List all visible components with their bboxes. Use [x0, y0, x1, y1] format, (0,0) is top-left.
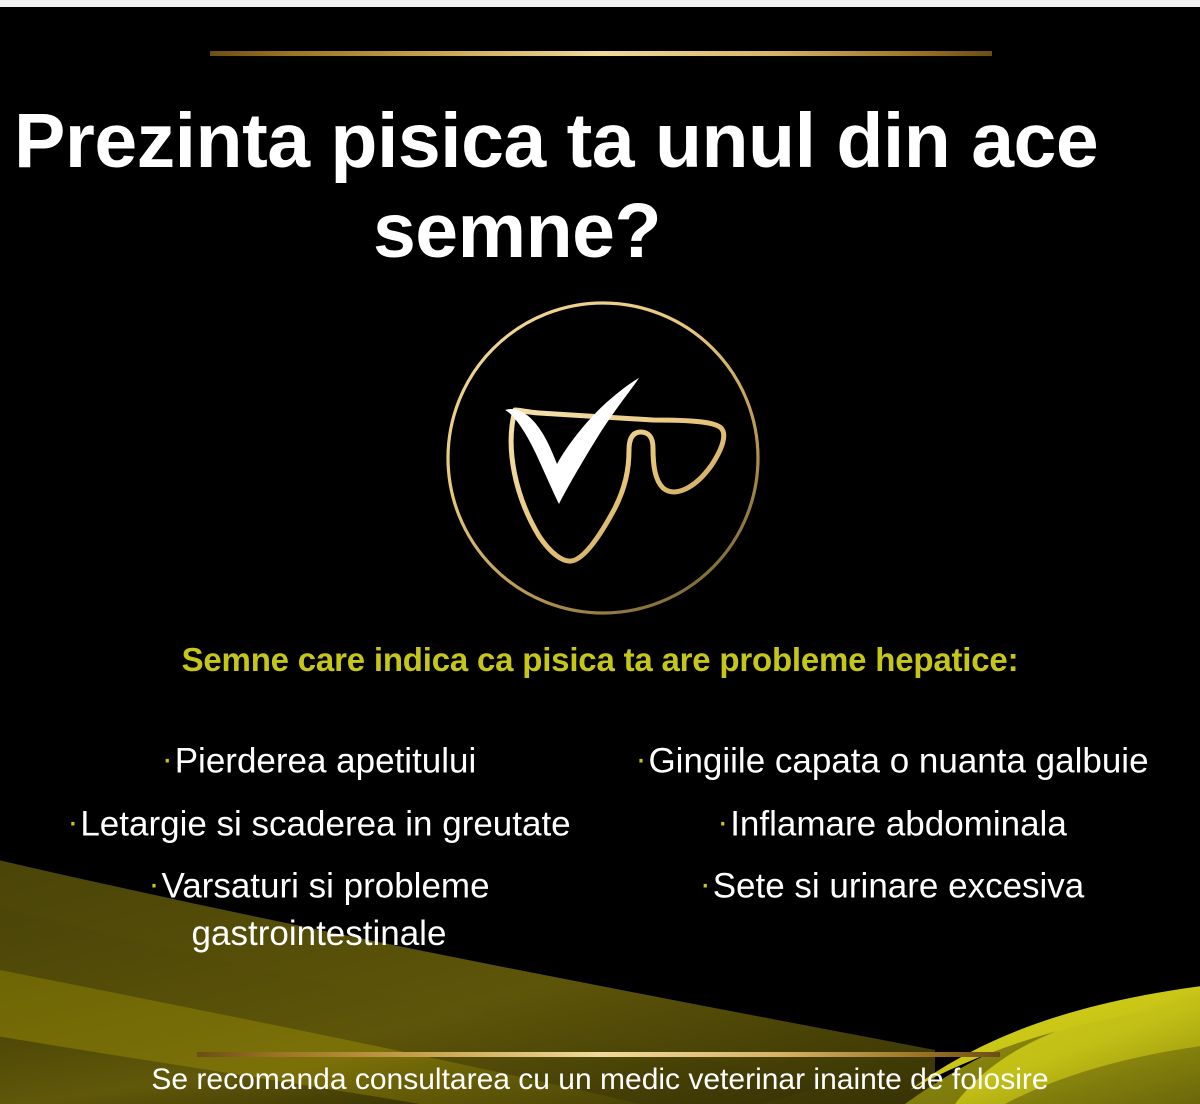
- check-icon: [505, 378, 639, 504]
- section-subtitle: Semne care indica ca pisica ta are probl…: [0, 640, 1200, 680]
- bottom-gold-divider: [197, 1052, 1000, 1057]
- list-item-label: Pierderea apetitului: [175, 742, 477, 781]
- list-item: ·Gingiile capata o nuanta galbuie: [624, 735, 1160, 785]
- list-item: ·Letargie si scaderea in greutate: [56, 798, 582, 848]
- list-item-label: Sete si urinare excesiva: [713, 867, 1085, 906]
- emblem-ring: [448, 303, 758, 613]
- liver-outline: [511, 410, 724, 561]
- symptoms-left-column: ·Pierderea apetitului ·Letargie si scade…: [0, 735, 600, 1025]
- title-line-2: semne?: [14, 186, 1200, 276]
- liver-check-emblem: [443, 298, 763, 618]
- footer-disclaimer: Se recomanda consultarea cu un medic vet…: [0, 1060, 1200, 1100]
- list-item-label: Gingiile capata o nuanta galbuie: [648, 742, 1148, 781]
- title-line-1: Prezinta pisica ta unul din ace: [14, 96, 1200, 186]
- symptoms-right-column: ·Gingiile capata o nuanta galbuie ·Infla…: [600, 735, 1200, 1025]
- poster-slide: Prezinta pisica ta unul din ace semne?: [0, 0, 1200, 1104]
- list-item-label: Letargie si scaderea in greutate: [80, 804, 570, 843]
- top-edge-strip: [0, 0, 1200, 7]
- top-gold-divider: [210, 51, 992, 56]
- list-item: ·Sete si urinare excesiva: [624, 860, 1160, 910]
- bullet-icon: ·: [700, 865, 711, 902]
- bullet-icon: ·: [717, 803, 728, 840]
- bullet-icon: ·: [635, 740, 646, 777]
- page-title: Prezinta pisica ta unul din ace semne?: [14, 96, 1200, 276]
- list-item: ·Inflamare abdominala: [624, 798, 1160, 848]
- list-item: ·Varsaturi si probleme gastrointestinale: [56, 860, 582, 957]
- symptoms-columns: ·Pierderea apetitului ·Letargie si scade…: [0, 735, 1200, 1025]
- bullet-icon: ·: [162, 740, 173, 777]
- bullet-icon: ·: [67, 803, 78, 840]
- list-item: ·Pierderea apetitului: [56, 735, 582, 785]
- list-item-label: Inflamare abdominala: [730, 804, 1067, 843]
- list-item-label: Varsaturi si probleme gastrointestinale: [161, 867, 489, 953]
- bullet-icon: ·: [148, 865, 159, 902]
